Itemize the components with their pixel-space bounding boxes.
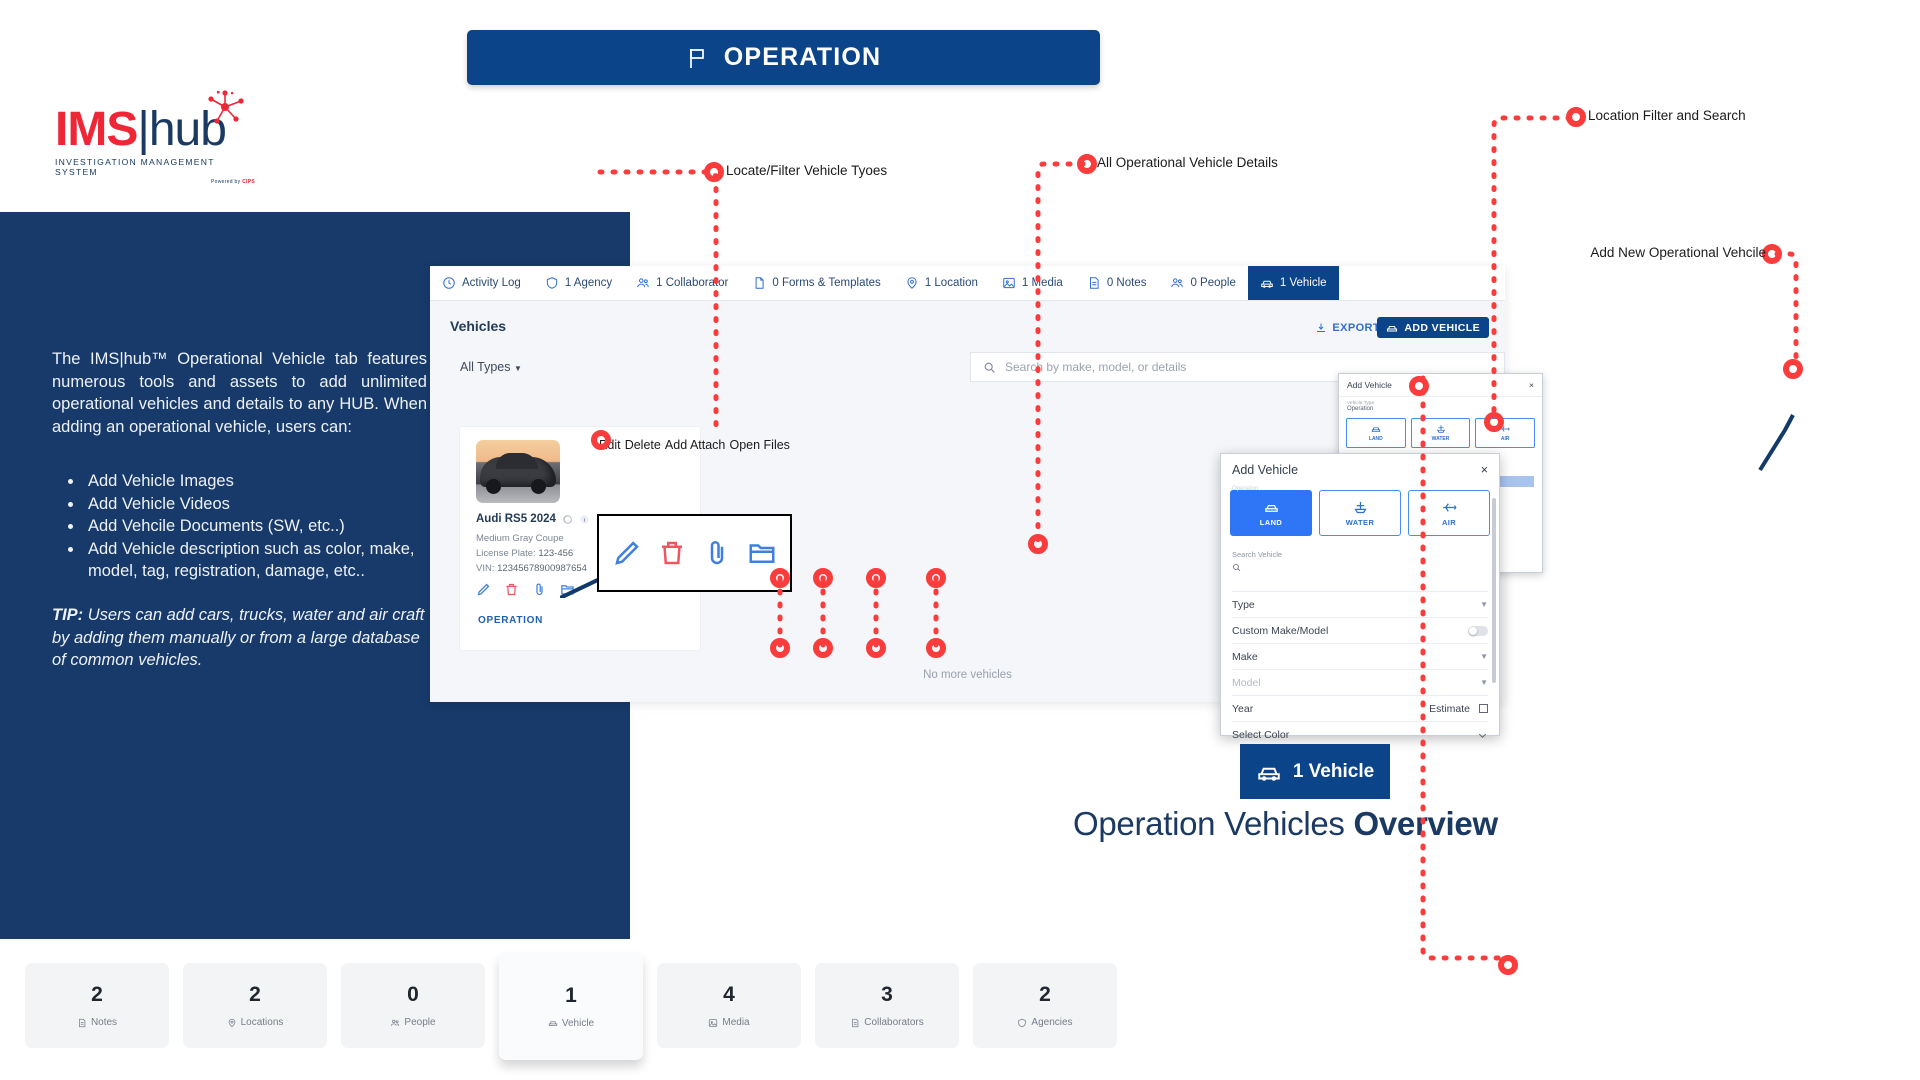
search-placeholder: Search by make, model, or details (1005, 360, 1186, 374)
stat-value: 2 (1039, 983, 1051, 1007)
list-item: Add Vehcile Documents (SW, etc..) (84, 515, 452, 538)
type-card-water[interactable]: WATER (1411, 418, 1471, 448)
info-icon[interactable]: i (579, 514, 590, 525)
annotation-all-details: All Operational Vehicle Details (1097, 155, 1278, 170)
chevron-down-icon (1477, 730, 1488, 741)
annotation-locate-filter: Locate/Filter Vehicle Tyoes (726, 163, 887, 178)
car-icon (1256, 759, 1282, 785)
custom-make-model-toggle[interactable] (1468, 626, 1488, 636)
vehicle-title-row: Audi RS5 2024 i (476, 513, 590, 525)
search-icon (1232, 563, 1241, 572)
row-label: Year (1232, 703, 1253, 715)
stat-label: Collaborators (864, 1017, 923, 1028)
trash-icon[interactable] (504, 582, 519, 597)
pencil-icon[interactable] (612, 538, 642, 568)
car-icon (1260, 276, 1274, 290)
info-tip-text: Users can add cars, trucks, water and ai… (52, 606, 424, 669)
download-icon (1315, 322, 1327, 334)
pin-icon (227, 1018, 237, 1028)
stat-value: 4 (723, 983, 735, 1007)
boat-icon (1436, 424, 1446, 434)
overview-title-bold: Overview (1353, 805, 1497, 842)
modal-row-model[interactable]: Model ▼ (1232, 670, 1488, 696)
info-bullet-list: Add Vehicle Images Add Vehicle Videos Ad… (62, 470, 452, 583)
row-label: Type (1232, 599, 1255, 611)
stat-card-collaborators[interactable]: 3 Collaborators (815, 963, 959, 1048)
stat-card-locations[interactable]: 2 Locations (183, 963, 327, 1048)
stat-value: 0 (407, 983, 419, 1007)
type-card-label: AIR (1442, 518, 1456, 527)
note-icon (850, 1018, 860, 1028)
plane-icon (1500, 424, 1510, 434)
stat-card-media[interactable]: 4 Media (657, 963, 801, 1048)
modal-back-header: Add Vehicle × (1339, 374, 1542, 397)
modal-row-custom-make-model[interactable]: Custom Make/Model (1232, 618, 1488, 644)
page-title: Vehicles (450, 318, 506, 334)
people-icon (390, 1018, 400, 1028)
tab-forms-templates[interactable]: 0 Forms & Templates (740, 266, 892, 300)
stat-value: 2 (249, 983, 261, 1007)
stat-label: People (404, 1017, 435, 1028)
search-vehicle-label: Search Vehicle (1232, 550, 1488, 559)
pencil-icon[interactable] (476, 582, 491, 597)
type-card-label: WATER (1346, 518, 1375, 527)
logo-powered-by: Powered by (211, 179, 240, 185)
stat-label: Locations (241, 1017, 284, 1028)
logo-dots-icon (203, 90, 247, 124)
flag-icon (686, 46, 710, 70)
vehicle-description: Medium Gray Coupe (476, 533, 564, 544)
callout-label-delete: Delete (625, 438, 661, 452)
vin-label: VIN: (476, 563, 494, 574)
chevron-down-icon: ▼ (1480, 652, 1488, 661)
form-icon (752, 276, 766, 290)
modal-back-vehicle-type-field[interactable]: Vehicle Type Operation (1339, 397, 1542, 414)
row-label: Model (1232, 677, 1261, 689)
vehicle-count-chip: 1 Vehicle (1240, 744, 1390, 799)
tab-label: 0 Forms & Templates (772, 277, 880, 289)
marker-locate-filter (707, 165, 721, 179)
add-vehicle-button[interactable]: ADD VEHICLE (1377, 317, 1489, 338)
vehicle-license: License Plate: 123-456 (476, 548, 573, 559)
note-icon (1087, 276, 1101, 290)
tab-activity-log[interactable]: Activity Log (430, 266, 533, 300)
modal-row-type[interactable]: Type ▼ (1232, 592, 1488, 618)
type-card-air[interactable]: AIR (1475, 418, 1535, 448)
comment-icon[interactable] (562, 514, 573, 525)
field-value: Operation (1347, 406, 1534, 412)
close-icon[interactable]: × (1529, 380, 1534, 390)
leader-add-new-vehicle (1777, 254, 1796, 364)
type-card-label: LAND (1260, 518, 1282, 527)
shield-icon (545, 276, 559, 290)
modal-row-year[interactable]: Year Estimate (1232, 696, 1488, 722)
type-card-land[interactable]: LAND (1230, 490, 1312, 536)
type-card-label: WATER (1432, 436, 1450, 442)
modal-front-title: Add Vehicle (1232, 463, 1298, 477)
vehicle-count-label: 1 Vehicle (1293, 761, 1374, 783)
license-label: License Plate: (476, 548, 536, 559)
stat-card-agencies[interactable]: 2 Agencies (973, 963, 1117, 1048)
annotation-location-filter: Location Filter and Search (1588, 108, 1746, 123)
type-card-label: AIR (1501, 436, 1510, 442)
stat-label: Notes (91, 1017, 117, 1028)
car-icon (1264, 500, 1279, 515)
callout-label-edit: Edit (599, 438, 621, 452)
export-label: EXPORT (1332, 322, 1380, 334)
stats-row: 2 Notes 2 Locations 0 People 1 Vehicle 4… (25, 963, 1117, 1060)
shield-icon (1017, 1018, 1027, 1028)
logo-divider: | (137, 103, 148, 156)
type-card-air[interactable]: AIR (1408, 490, 1490, 536)
modal-scrollbar[interactable] (1492, 498, 1496, 683)
logo-subtitle: INVESTIGATION MANAGEMENT SYSTEM (55, 157, 255, 177)
status-badge: OPERATION (478, 615, 543, 626)
estimate-label: Estimate (1429, 703, 1470, 715)
logo-ims-text: IMS (55, 103, 137, 156)
callout-label-open-files: Open Files (729, 438, 789, 452)
info-tip-label: TIP: (52, 606, 83, 624)
modal-back-type-cards: LAND WATER AIR (1339, 414, 1542, 452)
tab-notes[interactable]: 0 Notes (1075, 266, 1159, 300)
ims-hub-logo: IMS|hub INVESTIGATION MANAGEMENT SYSTEM … (55, 104, 255, 185)
poster-root: IMS|hub INVESTIGATION MANAGEMENT SYSTEM … (0, 0, 1920, 1080)
estimate-checkbox[interactable] (1479, 704, 1488, 713)
export-button[interactable]: EXPORT (1315, 322, 1380, 334)
list-item: Add Vehicle Images (84, 470, 452, 493)
tab-label: Activity Log (462, 277, 521, 289)
tab-label: 1 Location (925, 277, 978, 289)
list-item: Add Vehicle Videos (84, 493, 452, 516)
image-icon (708, 1018, 718, 1028)
modal-front-header: Add Vehicle × (1221, 454, 1499, 486)
type-card-label: LAND (1369, 436, 1383, 442)
vehicle-thumbnail (476, 440, 560, 503)
image-icon (1002, 276, 1016, 290)
note-icon (77, 1018, 87, 1028)
callout-label-add-attach: Add Attach (665, 438, 725, 452)
operation-banner: OPERATION (467, 30, 1100, 85)
stat-card-notes[interactable]: 2 Notes (25, 963, 169, 1048)
info-paragraph: The IMS|hub™ Operational Vehicle tab fea… (52, 348, 427, 438)
tab-collaborator[interactable]: 1 Collaborator (624, 266, 740, 300)
overview-title-light: Operation Vehicles (1073, 805, 1353, 842)
tab-label: 1 Collaborator (656, 277, 728, 289)
tab-location[interactable]: 1 Location (893, 266, 990, 300)
app-tab-bar: Activity Log 1 Agency 1 Collaborator 0 F… (430, 266, 1505, 301)
tab-label: 1 Agency (565, 277, 612, 289)
car-icon (548, 1018, 558, 1028)
car-icon (1386, 322, 1398, 334)
info-tip: TIP: Users can add cars, trucks, water a… (52, 604, 432, 672)
vin-value: 12345678900987654 (497, 563, 587, 574)
icon-callout-box (597, 514, 792, 592)
row-label: Make (1232, 651, 1258, 663)
modal-row-make[interactable]: Make ▼ (1232, 644, 1488, 670)
type-card-land[interactable]: LAND (1346, 418, 1406, 448)
trash-icon[interactable] (657, 538, 687, 568)
annotation-add-new-vehicle: Add New Operational Vehcile (1400, 245, 1766, 260)
marker-add-vehicle-end (1786, 362, 1800, 376)
close-icon[interactable]: × (1481, 463, 1488, 477)
paperclip-icon[interactable] (532, 582, 547, 597)
stat-label: Vehicle (562, 1018, 594, 1029)
tab-label: 0 Notes (1107, 277, 1147, 289)
stat-card-vehicle[interactable]: 1 Vehicle (499, 952, 643, 1060)
license-value: 123-456 (538, 548, 573, 559)
list-item: Add Vehicle description such as color, m… (84, 538, 452, 583)
tab-vehicle[interactable]: 1 Vehicle (1248, 266, 1339, 300)
add-vehicle-label: ADD VEHICLE (1404, 322, 1480, 334)
modal-search-vehicle-field[interactable]: Search Vehicle (1221, 536, 1499, 577)
vehicle-vin: VIN: 12345678900987654 (476, 563, 587, 574)
pin-icon (905, 276, 919, 290)
row-label: Custom Make/Model (1232, 625, 1328, 637)
marker-all-details (1080, 157, 1094, 171)
stat-value: 2 (91, 983, 103, 1007)
modal-back-title: Add Vehicle (1347, 380, 1392, 390)
row-label: Select Color (1232, 729, 1289, 741)
tab-label: 1 Media (1022, 277, 1063, 289)
people-icon (1170, 276, 1184, 290)
stat-label: Agencies (1031, 1017, 1072, 1028)
paperclip-icon[interactable] (702, 538, 732, 568)
all-types-label: All Types (460, 360, 511, 374)
stat-value: 3 (881, 983, 893, 1007)
chevron-down-icon: ▼ (1480, 600, 1488, 609)
all-types-filter[interactable]: All Types ▼ (460, 360, 522, 374)
stat-label: Media (722, 1017, 749, 1028)
tab-label: 1 Vehicle (1280, 277, 1327, 289)
boat-icon (1353, 500, 1368, 515)
modal-front-type-cards: LAND WATER AIR (1221, 486, 1499, 536)
vehicle-title: Audi RS5 2024 (476, 513, 556, 525)
stat-card-people[interactable]: 0 People (341, 963, 485, 1048)
add-vehicle-connector (1760, 415, 1793, 470)
search-icon (983, 361, 996, 374)
search-underline (1232, 579, 1488, 592)
folder-icon[interactable] (747, 538, 777, 568)
tab-agency[interactable]: 1 Agency (533, 266, 624, 300)
modal-front-ghost-label: Operation (1232, 486, 1258, 492)
icon-callout-labels: Edit Delete Add Attach Open Files (597, 438, 792, 452)
chevron-down-icon: ▼ (514, 364, 522, 373)
tab-label: 0 People (1190, 277, 1235, 289)
marker-location-filter (1569, 110, 1583, 124)
tab-people[interactable]: 0 People (1158, 266, 1247, 300)
overview-title: Operation Vehicles Overview (1073, 805, 1893, 843)
type-card-water[interactable]: WATER (1319, 490, 1401, 536)
marker-add-new-vehicle (1765, 247, 1779, 261)
marker-vehicle-chip (1501, 958, 1515, 972)
people-icon (636, 276, 650, 290)
tab-media[interactable]: 1 Media (990, 266, 1075, 300)
operation-banner-title: OPERATION (724, 43, 882, 72)
logo-powered-brand: CIPS (242, 179, 255, 185)
add-vehicle-modal-front[interactable]: Add Vehicle × Operation LAND WATER AIR S… (1220, 453, 1500, 736)
plane-icon (1442, 500, 1457, 515)
stat-value: 1 (565, 984, 577, 1008)
car-icon (1371, 424, 1381, 434)
chevron-down-icon: ▼ (1480, 678, 1488, 687)
clock-icon (442, 276, 456, 290)
